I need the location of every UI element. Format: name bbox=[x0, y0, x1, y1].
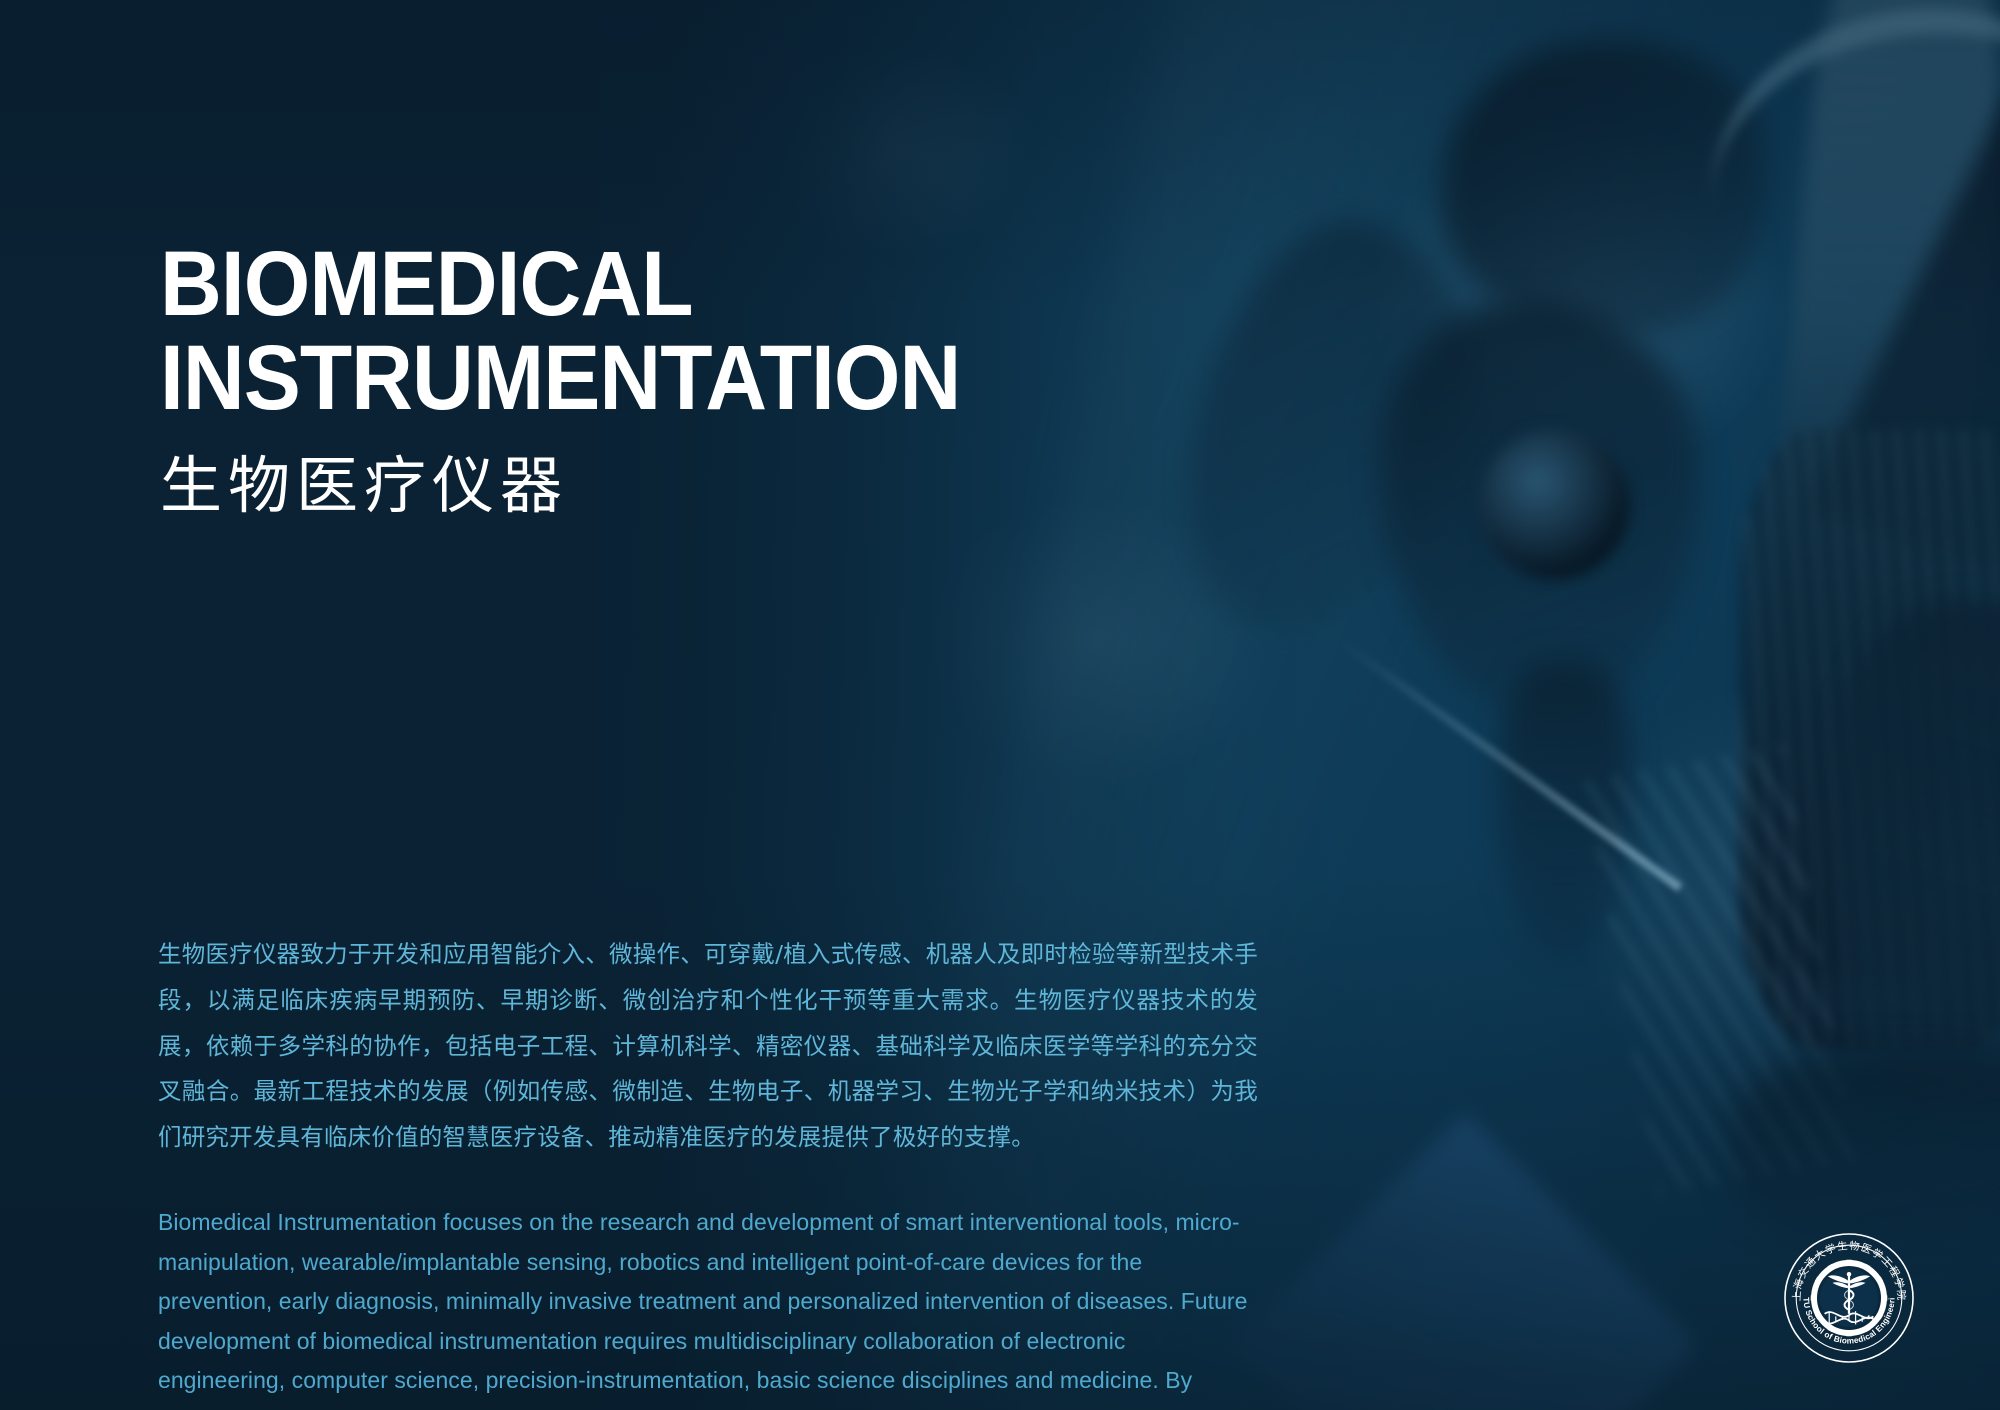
sjtu-sbme-seal-icon: 上海交通大学生物医学工程学院 SJTU School of Biomedical… bbox=[1783, 1232, 1915, 1364]
body-text-block: 生物医疗仪器致力于开发和应用智能介入、微操作、可穿戴/植入式传感、机器人及即时检… bbox=[158, 932, 1258, 1410]
title-block: BIOMEDICAL INSTRUMENTATION 生物医疗仪器 bbox=[160, 238, 1021, 520]
description-paragraph-english: Biomedical Instrumentation focuses on th… bbox=[158, 1203, 1258, 1410]
page-title-chinese: 生物医疗仪器 bbox=[160, 452, 1021, 520]
page-title-english: BIOMEDICAL INSTRUMENTATION bbox=[160, 238, 960, 426]
description-paragraph-chinese: 生物医疗仪器致力于开发和应用智能介入、微操作、可穿戴/植入式传感、机器人及即时检… bbox=[158, 932, 1258, 1161]
sjtu-sbme-logo: 上海交通大学生物医学工程学院 SJTU School of Biomedical… bbox=[1783, 1232, 1915, 1364]
content-layer: BIOMEDICAL INSTRUMENTATION 生物医疗仪器 生物医疗仪器… bbox=[0, 0, 2000, 1410]
poster-canvas: BIOMEDICAL INSTRUMENTATION 生物医疗仪器 生物医疗仪器… bbox=[0, 0, 2000, 1410]
